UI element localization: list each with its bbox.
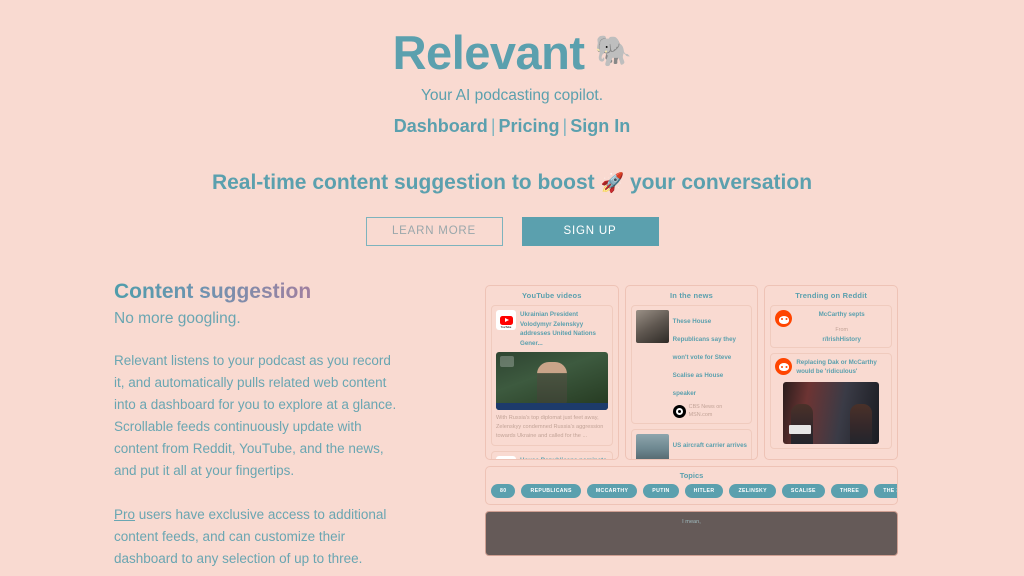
speaker-figure	[537, 362, 567, 404]
nav-separator-2: |	[563, 116, 568, 136]
sign-up-button[interactable]: SIGN UP	[522, 217, 659, 246]
transcript-text: I mean,	[682, 519, 701, 525]
elephant-icon: 🐘	[595, 35, 632, 68]
transcript-panel: I mean,	[485, 511, 898, 556]
panel-youtube-title: YouTube videos	[491, 291, 613, 300]
reddit-icon	[775, 358, 792, 375]
microphone-icon	[789, 425, 811, 434]
person-left	[791, 404, 813, 444]
reddit-from-label: From	[796, 327, 887, 333]
reddit-card[interactable]: Replacing Dak or McCarthy would be 'ridi…	[770, 353, 892, 449]
reddit-card-head: Replacing Dak or McCarthy would be 'ridi…	[775, 358, 887, 377]
panel-reddit-title: Trending on Reddit	[770, 291, 892, 300]
topic-tag[interactable]: SCALISE	[782, 484, 825, 498]
reddit-thumbnail[interactable]	[783, 382, 879, 444]
youtube-card-title: Ukrainian President Volodymyr Zelenskyy …	[520, 310, 608, 348]
reddit-card-title: McCarthy septs	[796, 310, 887, 320]
youtube-card-head: YouTube House Republicans nominate	[496, 456, 608, 460]
nav-separator-1: |	[491, 116, 496, 136]
cta-group: LEARN MORESIGN UP	[0, 217, 1024, 246]
youtube-icon: YouTube	[496, 310, 516, 330]
topic-tag[interactable]: PUTIN	[643, 484, 678, 498]
topic-tag[interactable]: MCCARTHY	[587, 484, 637, 498]
panel-reddit[interactable]: Trending on Reddit McCarthy septs From r…	[764, 285, 898, 460]
hero-pitch-before: Real-time content suggestion to boost	[212, 171, 601, 194]
learn-more-button[interactable]: LEARN MORE	[366, 217, 503, 246]
landing-page: Relevant🐘 Your AI podcasting copilot. Da…	[0, 0, 1024, 576]
person-right	[850, 404, 872, 444]
main-nav: Dashboard|Pricing|Sign In	[0, 116, 1024, 137]
brand-title: Relevant🐘	[0, 27, 1024, 79]
news-source-name: CBS News on MSN.com	[689, 403, 748, 419]
reddit-icon	[775, 310, 792, 327]
news-source-row: CBS News on MSN.com	[673, 403, 748, 419]
youtube-card[interactable]: YouTube House Republicans nominate	[491, 451, 613, 460]
nav-item-dashboard[interactable]: Dashboard	[394, 116, 488, 136]
nav-item-sign-in[interactable]: Sign In	[570, 116, 630, 136]
reddit-subreddit[interactable]: r/IrishHistory	[796, 336, 887, 343]
feature-column: Content suggestion No more googling. Rel…	[114, 278, 404, 570]
news-card-title: US aircraft carrier arrives in South Kor…	[673, 442, 747, 460]
news-thumbnail	[636, 434, 669, 460]
feature-paragraph-2: Pro users have exclusive access to addit…	[114, 504, 404, 570]
hero-pitch-after: your conversation	[624, 171, 812, 194]
youtube-card-head: YouTube Ukrainian President Volodymyr Ze…	[496, 310, 608, 348]
brand-name: Relevant	[393, 26, 585, 79]
nav-item-pricing[interactable]: Pricing	[499, 116, 560, 136]
news-card[interactable]: US aircraft carrier arrives in South Kor…	[631, 429, 753, 460]
youtube-card-description: With Russia's top diplomat just feet awa…	[496, 414, 608, 441]
topic-tag[interactable]: 80	[491, 484, 515, 498]
topic-tag[interactable]: THE 300 MILLION	[874, 484, 898, 498]
feature-title: Content suggestion	[114, 278, 311, 305]
hero-header: Relevant🐘 Your AI podcasting copilot. Da…	[0, 0, 1024, 246]
dashboard-preview: YouTube videos YouTube Ukrainian Preside…	[485, 285, 898, 556]
panel-youtube[interactable]: YouTube videos YouTube Ukrainian Preside…	[485, 285, 619, 460]
rocket-icon: 🚀	[600, 173, 624, 194]
news-card-head: These House Republicans say they won't v…	[636, 310, 748, 419]
pro-link[interactable]: Pro	[114, 507, 135, 522]
panel-news-title: In the news	[631, 291, 753, 300]
topics-title: Topics	[491, 471, 892, 480]
brand-tagline: Your AI podcasting copilot.	[0, 87, 1024, 105]
topic-tag[interactable]: REPUBLICANS	[521, 484, 580, 498]
feature-subtitle: No more googling.	[114, 310, 404, 328]
topic-tag[interactable]: HITLER	[685, 484, 724, 498]
topic-tag[interactable]: ZELINSKY	[729, 484, 775, 498]
youtube-icon: YouTube	[496, 456, 516, 460]
topic-tag[interactable]: THREE	[831, 484, 868, 498]
feature-paragraph-1: Relevant listens to your podcast as you …	[114, 350, 404, 482]
news-thumbnail	[636, 310, 669, 343]
youtube-card[interactable]: YouTube Ukrainian President Volodymyr Ze…	[491, 305, 613, 446]
youtube-thumbnail[interactable]	[496, 352, 608, 410]
reddit-card-title: Replacing Dak or McCarthy would be 'ridi…	[796, 358, 887, 377]
topics-panel: Topics 80 REPUBLICANS MCCARTHY PUTIN HIT…	[485, 466, 898, 505]
news-card[interactable]: These House Republicans say they won't v…	[631, 305, 753, 424]
youtube-card-title: House Republicans nominate	[520, 456, 607, 460]
dashboard-columns: YouTube videos YouTube Ukrainian Preside…	[485, 285, 898, 460]
news-card-head: US aircraft carrier arrives in South Kor…	[636, 434, 748, 460]
topic-tag-row: 80 REPUBLICANS MCCARTHY PUTIN HITLER ZEL…	[491, 484, 892, 498]
panel-news[interactable]: In the news These House Republicans say …	[625, 285, 759, 460]
podium-bar	[496, 403, 608, 410]
feature-paragraph-2-text: users have exclusive access to additiona…	[114, 507, 386, 566]
cbs-eye-icon	[673, 405, 686, 418]
reddit-card-head: McCarthy septs From r/IrishHistory	[775, 310, 887, 343]
reddit-card[interactable]: McCarthy septs From r/IrishHistory	[770, 305, 892, 348]
news-card-title: These House Republicans say they won't v…	[673, 318, 736, 397]
abc-news-logo-icon	[500, 356, 514, 367]
hero-pitch: Real-time content suggestion to boost 🚀 …	[0, 171, 1024, 195]
